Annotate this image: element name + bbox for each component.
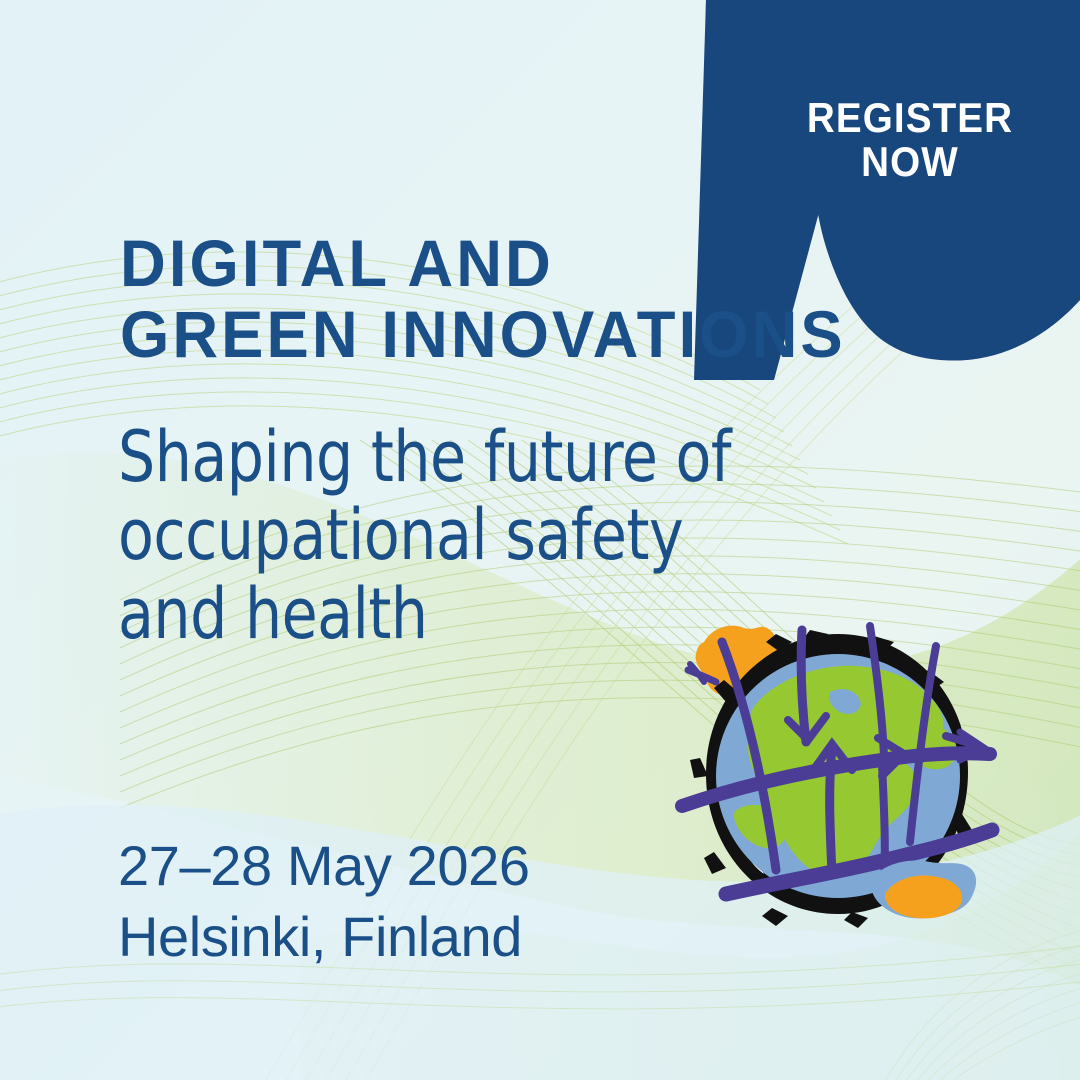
event-dates: 27–28 May 2026 (118, 834, 530, 897)
orange-paint-blob-bottom (871, 861, 976, 919)
poster-canvas: REGISTER NOW DIGITAL AND GREEN INNOVATIO… (0, 0, 1080, 1080)
poster-headline: DIGITAL AND GREEN INNOVATIONS (120, 228, 850, 371)
register-now-label[interactable]: REGISTER NOW (772, 96, 1048, 184)
globe-illustration (660, 608, 1010, 948)
